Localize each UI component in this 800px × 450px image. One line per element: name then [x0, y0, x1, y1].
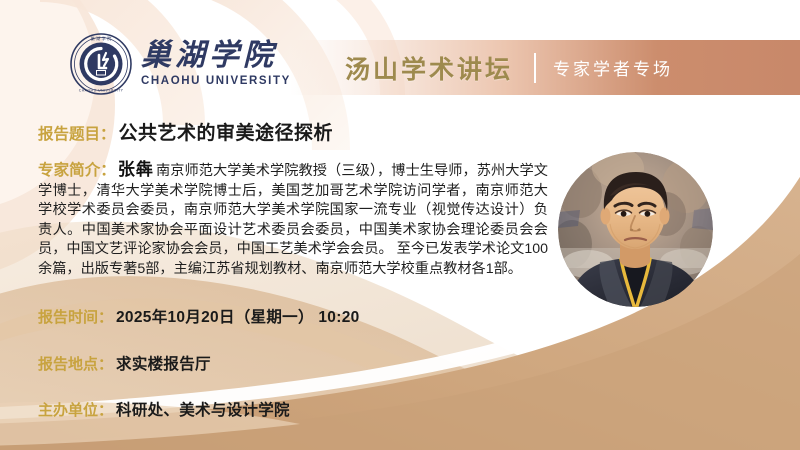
report-title-label: 报告题目： — [38, 122, 116, 144]
report-place-label: 报告地点： — [38, 353, 113, 374]
university-logo: 巢 湖 学 院 CHAOHU UNIVERSITY 巢湖学院 CHAOHU UN… — [70, 33, 291, 95]
report-place-value: 求实楼报告厅 — [116, 352, 211, 374]
lecture-poster: 汤山学术讲坛 专家学者专场 巢 湖 学 院 CHAOHU UNIVERSITY … — [0, 0, 800, 450]
report-host-row: 主办单位： 科研处、美术与设计学院 — [38, 398, 290, 420]
banner-subtitle: 专家学者专场 — [553, 55, 673, 80]
speaker-portrait-photo — [558, 152, 713, 307]
speaker-name: 张犇 — [118, 160, 154, 179]
university-name-block: 巢湖学院 CHAOHU UNIVERSITY — [141, 41, 291, 88]
report-host-value: 科研处、美术与设计学院 — [116, 398, 290, 420]
university-name-cn: 巢湖学院 — [141, 41, 277, 71]
university-name-en: CHAOHU UNIVERSITY — [141, 76, 291, 88]
speaker-bio-row: 专家简介：张犇南京师范大学美术学院教授（三级），博士生导师，苏州大学文学博士，清… — [38, 160, 548, 280]
chaohu-university-seal-icon: 巢 湖 学 院 CHAOHU UNIVERSITY — [70, 33, 132, 95]
speaker-bio-paragraph: 专家简介：张犇南京师范大学美术学院教授（三级），博士生导师，苏州大学文学博士，清… — [38, 160, 548, 280]
report-title-value: 公共艺术的审美途径探析 — [119, 118, 334, 145]
report-time-row: 报告时间： 2025年10月20日（星期一） 10:20 — [38, 305, 360, 327]
banner-main-title: 汤山学术讲坛 — [345, 50, 513, 86]
banner-divider — [534, 53, 536, 83]
report-place-row: 报告地点： 求实楼报告厅 — [38, 352, 211, 374]
svg-text:CHAOHU UNIVERSITY: CHAOHU UNIVERSITY — [79, 89, 124, 93]
speaker-bio-label: 专家简介： — [38, 162, 116, 179]
svg-text:巢 湖 学 院: 巢 湖 学 院 — [91, 35, 113, 42]
report-title-row: 报告题目： 公共艺术的审美途径探析 — [38, 118, 333, 145]
report-time-label: 报告时间： — [38, 306, 113, 327]
speaker-bio-text: 南京师范大学美术学院教授（三级），博士生导师，苏州大学文学博士，清华大学美术学院… — [38, 163, 548, 277]
header-banner-content: 汤山学术讲坛 专家学者专场 — [290, 40, 800, 95]
report-time-value: 2025年10月20日（星期一） 10:20 — [116, 305, 360, 327]
report-host-label: 主办单位： — [38, 399, 113, 420]
